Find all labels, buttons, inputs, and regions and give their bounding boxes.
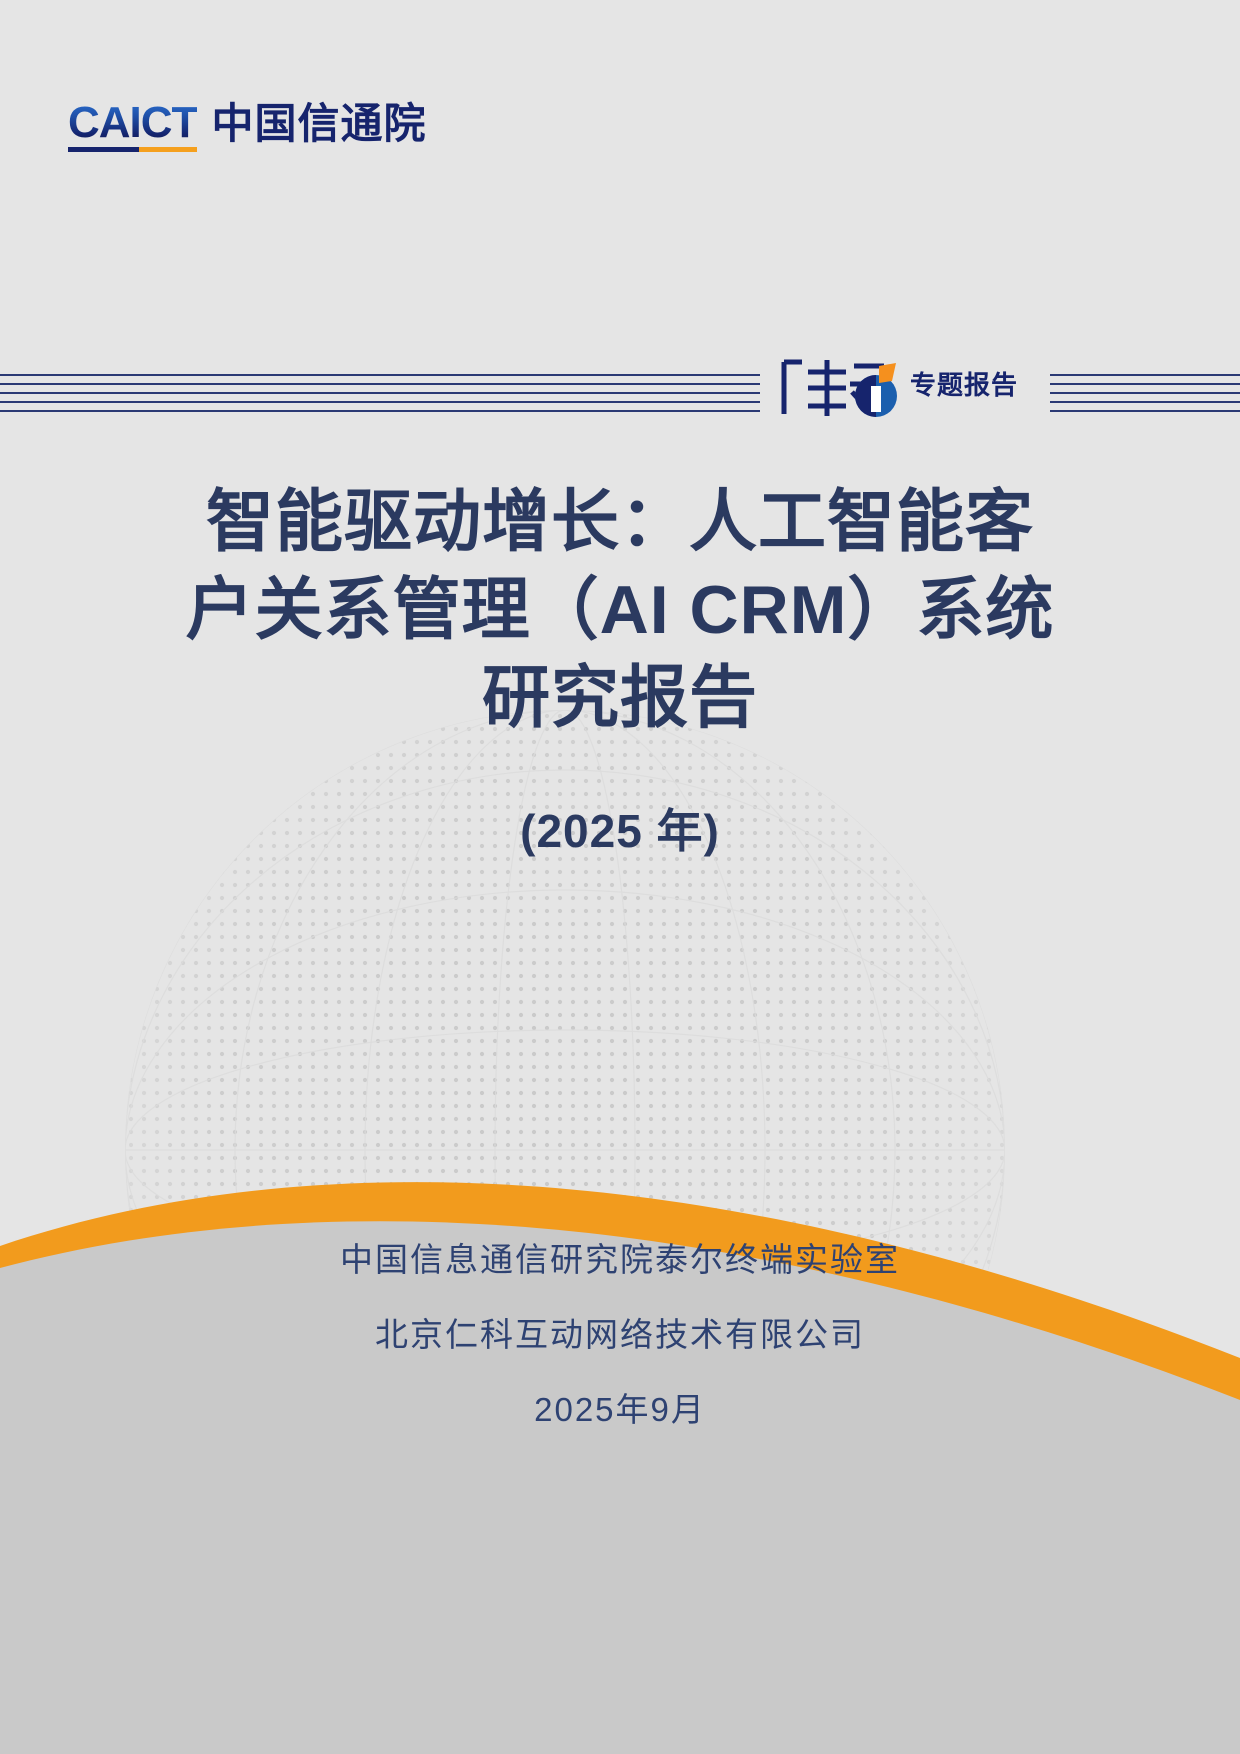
jizhi-badge: 专题报告 — [780, 332, 1030, 418]
caict-underline-rule — [68, 147, 197, 152]
title-year: (2025 年) — [110, 795, 1130, 861]
footer-line-2: 北京仁科互动网络技术有限公司 — [0, 1297, 1240, 1372]
title-line-1: 智能驱动增长：人工智能客 — [110, 478, 1130, 566]
title-line-3: 研究报告 — [110, 654, 1130, 742]
caict-letters: CAICT — [68, 100, 197, 146]
page-title: 智能驱动增长：人工智能客 户关系管理（AI CRM）系统 研究报告 — [110, 478, 1130, 742]
caict-logo: CAICT 中国信通院 — [68, 100, 426, 152]
footer-line-3: 2025年9月 — [0, 1372, 1240, 1447]
stripe-lines — [0, 374, 1240, 418]
caict-wordmark: CAICT — [68, 100, 197, 152]
decorative-stripe-band — [0, 374, 1240, 418]
footer-text-block: 中国信息通信研究院泰尔终端实验室 北京仁科互动网络技术有限公司 2025年9月 — [0, 1222, 1240, 1447]
title-line-2: 户关系管理（AI CRM）系统 — [110, 566, 1130, 654]
report-cover-page: CAICT 中国信通院 — [0, 0, 1240, 1754]
footer-line-1: 中国信息通信研究院泰尔终端实验室 — [0, 1222, 1240, 1297]
jizhi-logo-icon — [780, 336, 900, 418]
caict-chinese-name: 中国信通院 — [211, 101, 426, 152]
badge-label: 专题报告 — [910, 365, 1018, 418]
